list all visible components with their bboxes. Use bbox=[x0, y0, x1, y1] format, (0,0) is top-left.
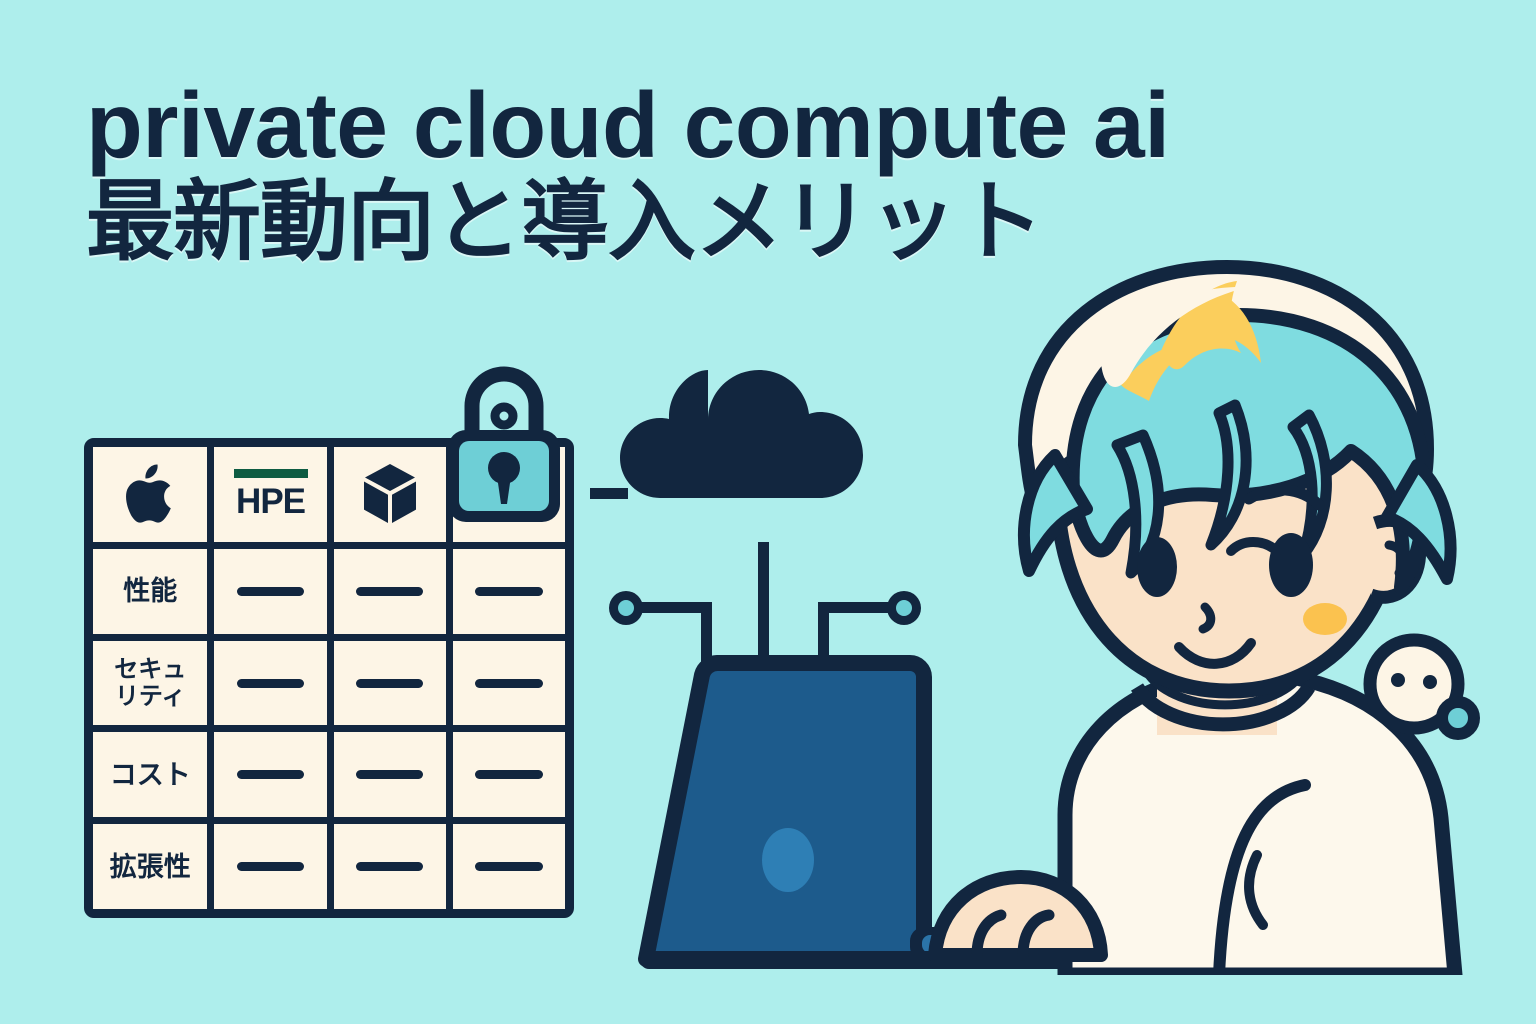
padlock-icon[interactable] bbox=[434, 358, 574, 543]
row-1-col-2 bbox=[453, 641, 565, 726]
value-dash bbox=[356, 770, 423, 779]
mascot-ear-icon bbox=[1442, 702, 1474, 734]
value-dash bbox=[237, 679, 304, 688]
title-line-english: private cloud compute ai bbox=[86, 78, 1486, 172]
row-0-col-2 bbox=[453, 549, 565, 634]
value-dash bbox=[356, 862, 423, 871]
hpe-green-bar bbox=[234, 469, 308, 478]
table-row: コスト bbox=[93, 732, 565, 817]
row-label-2: コスト bbox=[110, 760, 191, 790]
ellipse-logo-icon bbox=[762, 828, 814, 892]
eye-left-icon bbox=[1137, 537, 1177, 597]
row-label-3: 拡張性 bbox=[110, 852, 191, 882]
row-0-col-1 bbox=[334, 549, 446, 634]
table-row: セキュ リティ bbox=[93, 641, 565, 726]
row-1-col-1 bbox=[334, 641, 446, 726]
row-label-1-line-0: セキュ bbox=[114, 656, 186, 683]
row-2-col-1 bbox=[334, 732, 446, 817]
table-row: 拡張性 bbox=[93, 824, 565, 909]
table-row: 性能 bbox=[93, 549, 565, 634]
row-label-cell: 拡張性 bbox=[93, 824, 207, 909]
mascot-eye-right-icon bbox=[1423, 675, 1437, 689]
blush-icon bbox=[1303, 603, 1347, 635]
row-label-cell: コスト bbox=[93, 732, 207, 817]
robot-mascot-icon bbox=[1358, 632, 1488, 762]
header-cell-cube[interactable] bbox=[334, 447, 446, 542]
row-3-col-2 bbox=[453, 824, 565, 909]
header-cell-hpe[interactable]: HPE bbox=[214, 447, 326, 542]
row-2-col-0 bbox=[214, 732, 326, 817]
mascot-eye-left-icon bbox=[1391, 673, 1405, 687]
row-3-col-0 bbox=[214, 824, 326, 909]
row-label-1: セキュ リティ bbox=[114, 656, 186, 710]
value-dash bbox=[237, 587, 304, 596]
apple-logo-icon bbox=[124, 464, 176, 524]
row-3-col-1 bbox=[334, 824, 446, 909]
row-0-col-0 bbox=[214, 549, 326, 634]
row-label-1-line-1: リティ bbox=[115, 683, 186, 710]
person-at-laptop bbox=[905, 255, 1536, 975]
page-title: private cloud compute ai 最新動向と導入メリット bbox=[86, 78, 1486, 272]
row-1-col-0 bbox=[214, 641, 326, 726]
value-dash bbox=[475, 862, 542, 871]
value-dash bbox=[237, 770, 304, 779]
value-dash bbox=[475, 679, 542, 688]
value-dash bbox=[475, 587, 542, 596]
row-label-0: 性能 bbox=[123, 576, 177, 606]
value-dash bbox=[356, 679, 423, 688]
hpe-wordmark-icon: HPE bbox=[234, 469, 308, 519]
row-label-cell: セキュ リティ bbox=[93, 641, 207, 726]
hpe-label: HPE bbox=[236, 484, 305, 519]
row-label-cell: 性能 bbox=[93, 549, 207, 634]
eye-right-icon bbox=[1269, 533, 1313, 597]
value-dash bbox=[237, 862, 304, 871]
poster-canvas: private cloud compute ai 最新動向と導入メリット HPE bbox=[0, 0, 1536, 1024]
row-2-col-2 bbox=[453, 732, 565, 817]
value-dash bbox=[356, 587, 423, 596]
cube-box-icon bbox=[362, 463, 418, 525]
value-dash bbox=[475, 770, 542, 779]
header-cell-apple[interactable] bbox=[93, 447, 207, 542]
